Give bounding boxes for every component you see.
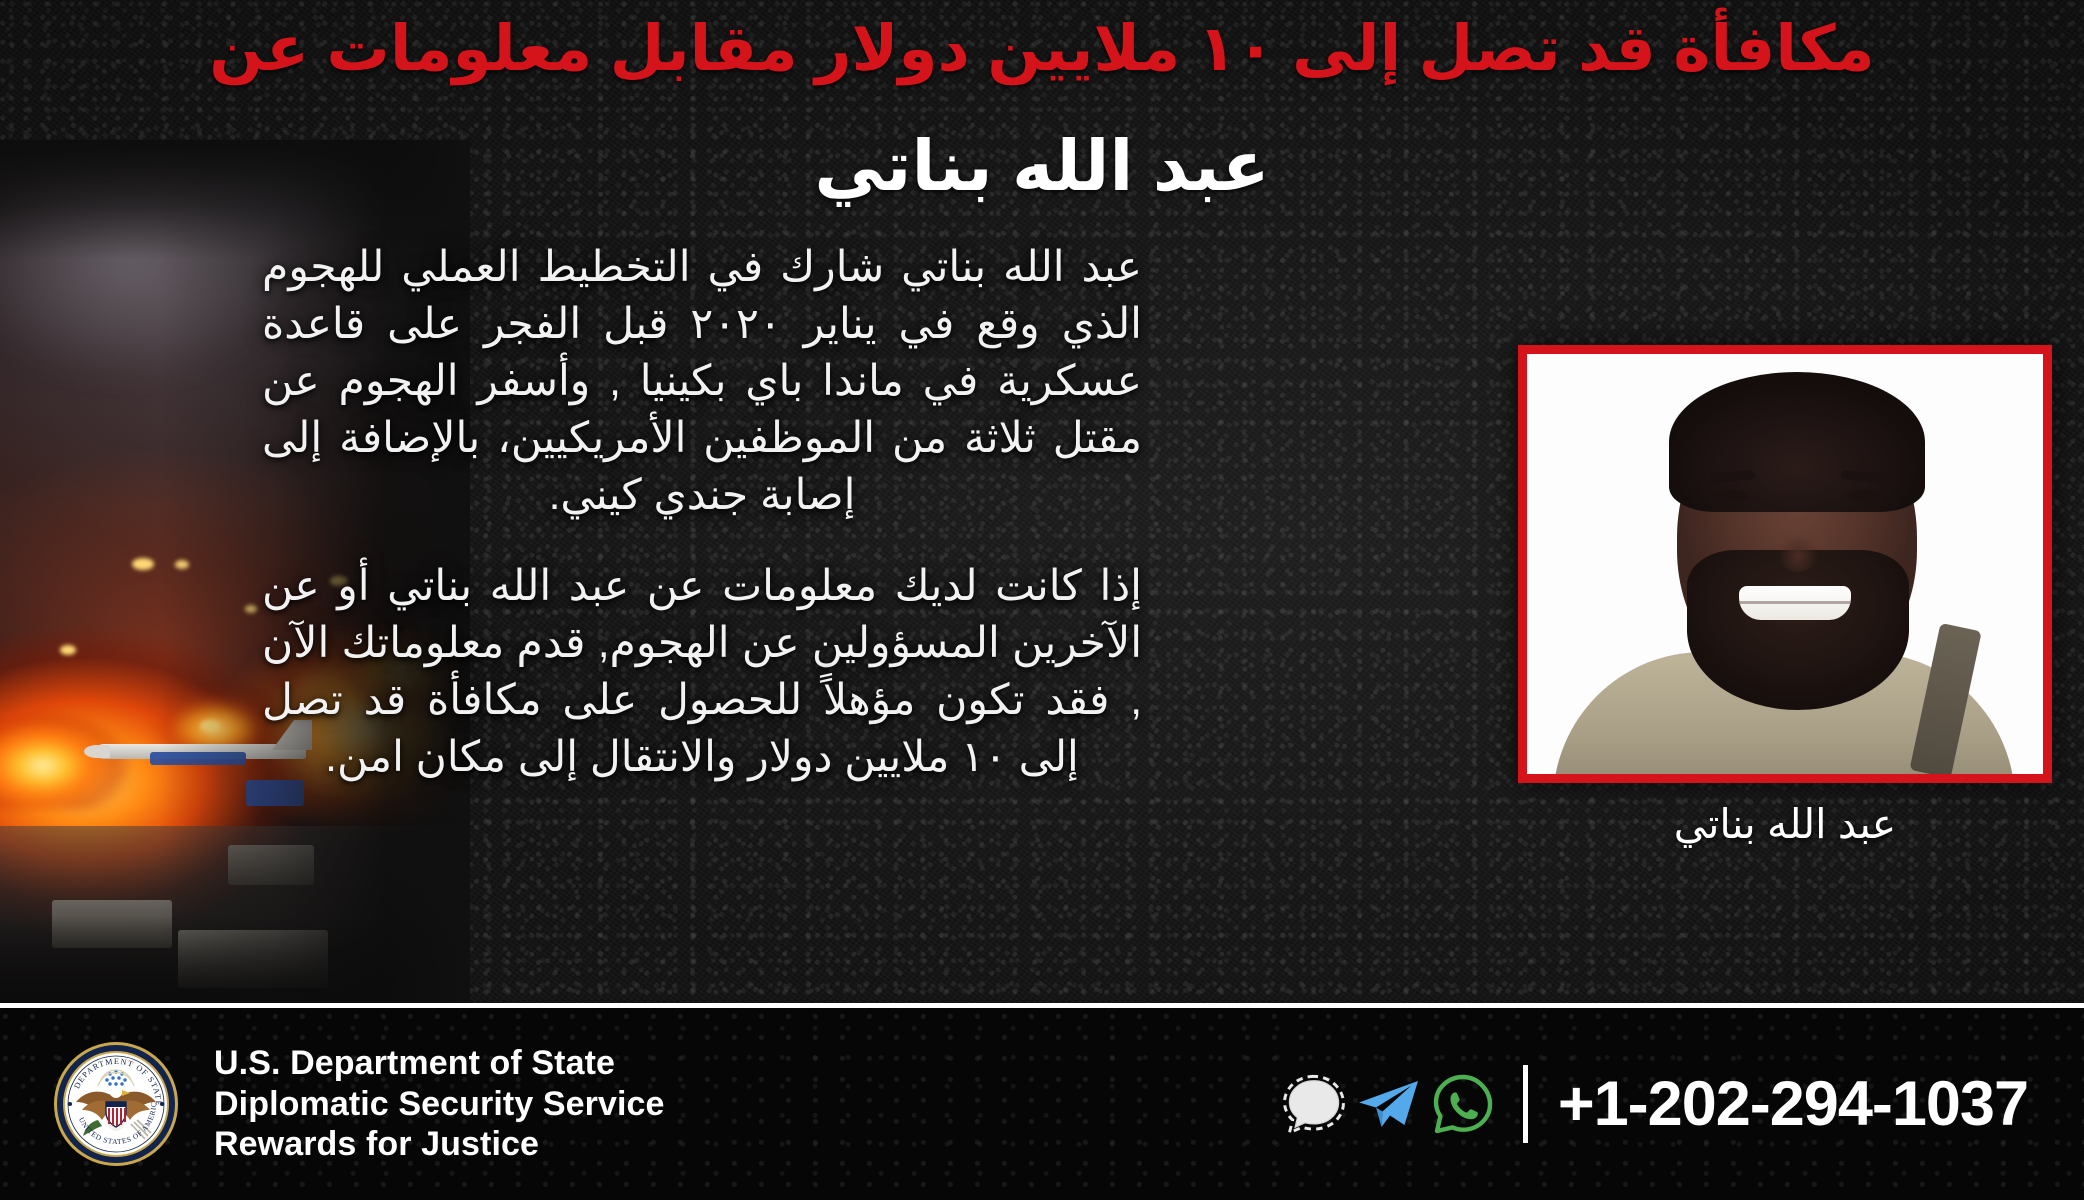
contact-separator — [1523, 1065, 1528, 1143]
subject-portrait-frame — [1518, 345, 2052, 783]
contact-block: +1-202-294-1037 — [1283, 1065, 2028, 1143]
body-text-column: عبد الله بناتي شارك في التخطيط العملي لل… — [262, 240, 1142, 786]
subject-portrait-photo — [1527, 354, 2043, 774]
telegram-icon[interactable] — [1355, 1075, 1421, 1133]
signal-icon[interactable] — [1283, 1073, 1345, 1135]
paragraph-incident: عبد الله بناتي شارك في التخطيط العملي لل… — [262, 240, 1142, 525]
department-of-state-seal-icon: DEPARTMENT OF STATE UNITED STATES OF AME… — [52, 1040, 180, 1168]
org-line-program: Rewards for Justice — [214, 1124, 665, 1165]
portrait-caption: عبد الله بناتي — [1518, 800, 2052, 848]
org-line-service: Diplomatic Security Service — [214, 1084, 665, 1125]
whatsapp-icon[interactable] — [1431, 1072, 1495, 1136]
organization-block: DEPARTMENT OF STATE UNITED STATES OF AME… — [52, 1040, 665, 1168]
messaging-app-icons — [1283, 1072, 1495, 1136]
tip-phone-number[interactable]: +1-202-294-1037 — [1558, 1068, 2028, 1140]
org-line-department: U.S. Department of State — [214, 1043, 665, 1084]
reward-poster: مكافأة قد تصل إلى ١٠ ملايين دولار مقابل … — [0, 0, 2084, 1200]
paragraph-call-to-action: إذا كانت لديك معلومات عن عبد الله بناتي … — [262, 559, 1142, 787]
reward-headline: مكافأة قد تصل إلى ١٠ ملايين دولار مقابل … — [0, 14, 2084, 85]
organization-name: U.S. Department of State Diplomatic Secu… — [214, 1043, 665, 1165]
subject-name-title: عبد الله بناتي — [0, 128, 2084, 205]
poster-footer: DEPARTMENT OF STATE UNITED STATES OF AME… — [0, 1008, 2084, 1200]
